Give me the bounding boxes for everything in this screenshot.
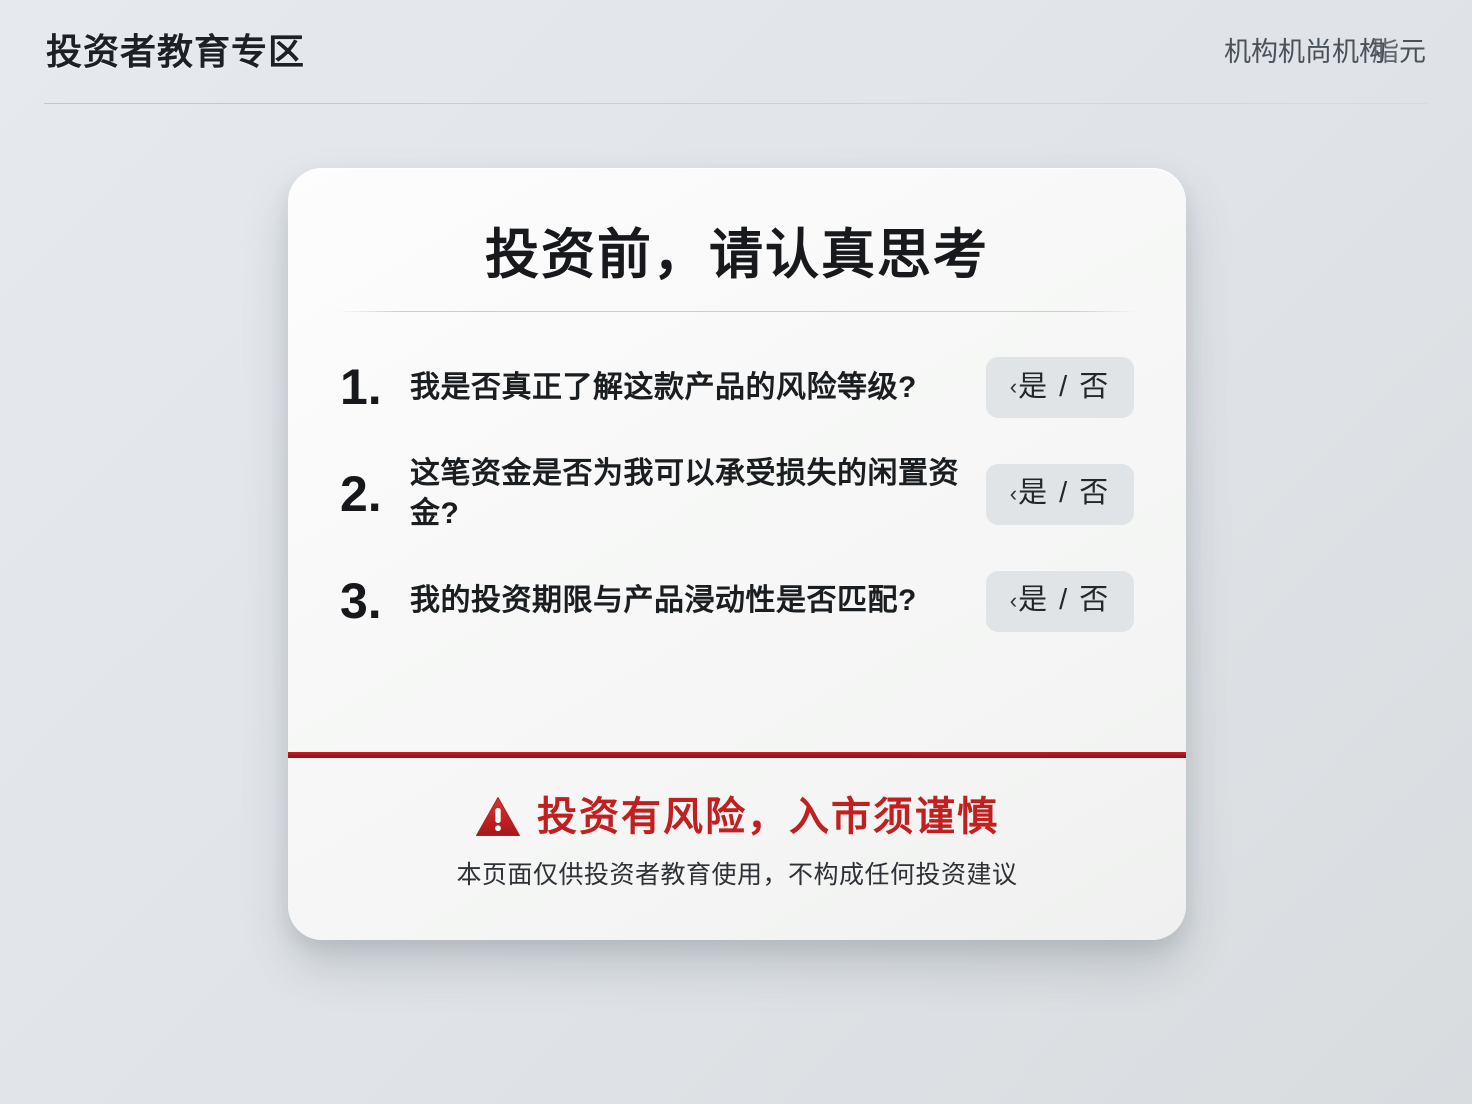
page-title: 投资者教育专区 — [46, 34, 305, 70]
header-brand-overlap: 脂 — [1372, 39, 1399, 66]
education-card: 投资前，请认真思考 1. 我是否真正了解这款产品的风险等级? ‹ 是 / 否 2… — [288, 168, 1186, 940]
disclaimer-text: 本页面仅供投资者教育使用，不构成任何投资建议 — [288, 860, 1186, 890]
answer-badge-label: 是 / 否 — [1018, 373, 1110, 402]
card-title: 投资前，请认真思考 — [288, 168, 1186, 285]
answer-toggle-badge[interactable]: ‹ 是 / 否 — [986, 570, 1134, 632]
header-divider — [44, 103, 1428, 104]
chevron-left-icon: ‹ — [1010, 376, 1017, 398]
warning-triangle-icon — [475, 796, 521, 838]
question-list: 1. 我是否真正了解这款产品的风险等级? ‹ 是 / 否 2. 这笔资金是否为我… — [288, 312, 1186, 631]
answer-badge-label: 是 / 否 — [1018, 479, 1110, 508]
list-item: 2. 这笔资金是否为我可以承受损失的闲置资金? ‹ 是 / 否 — [340, 454, 1134, 533]
header-brand-tail: 元 — [1399, 37, 1426, 67]
question-text: 这笔资金是否为我可以承受损失的闲置资金? — [410, 454, 972, 533]
question-number: 2. — [340, 469, 396, 519]
header-brand-text: 机构机尚机构脂元 — [1224, 39, 1426, 66]
risk-warning-text: 投资有风险，入市须谨慎 — [537, 797, 999, 837]
answer-toggle-badge[interactable]: ‹ 是 / 否 — [986, 463, 1134, 525]
list-item: 3. 我的投资期限与产品浸动性是否匹配? ‹ 是 / 否 — [340, 570, 1134, 632]
answer-toggle-badge[interactable]: ‹ 是 / 否 — [986, 356, 1134, 418]
question-number: 3. — [340, 576, 396, 626]
risk-warning-line: 投资有风险，入市须谨慎 — [288, 796, 1186, 838]
chevron-left-icon: ‹ — [1010, 590, 1017, 612]
card-footer: 投资有风险，入市须谨慎 本页面仅供投资者教育使用，不构成任何投资建议 — [288, 752, 1186, 890]
question-text: 我的投资期限与产品浸动性是否匹配? — [410, 581, 972, 621]
question-number: 1. — [340, 362, 396, 412]
question-text: 我是否真正了解这款产品的风险等级? — [410, 368, 972, 408]
page-header: 投资者教育专区 机构机尚机构脂元 — [0, 0, 1472, 104]
answer-badge-label: 是 / 否 — [1018, 586, 1110, 615]
header-brand-main: 机构机尚机构 — [1224, 37, 1386, 67]
chevron-left-icon: ‹ — [1010, 483, 1017, 505]
list-item: 1. 我是否真正了解这款产品的风险等级? ‹ 是 / 否 — [340, 356, 1134, 418]
page-root: 投资者教育专区 机构机尚机构脂元 投资前，请认真思考 1. 我是否真正了解这款产… — [0, 0, 1472, 1104]
